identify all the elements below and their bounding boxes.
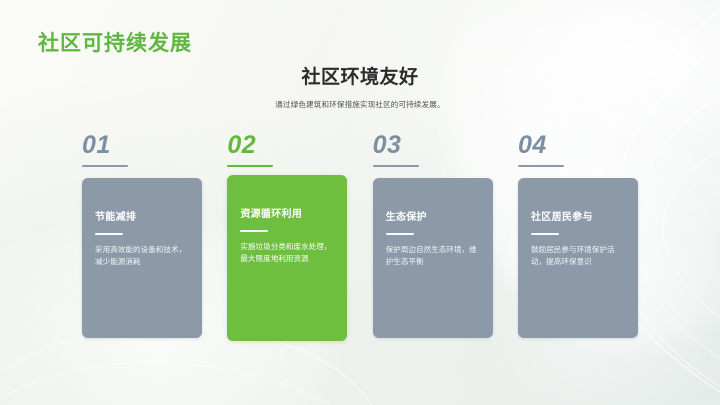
card-title-3: 生态保护 bbox=[386, 212, 480, 224]
column-number-underline-2 bbox=[227, 165, 273, 167]
feature-column-4[interactable]: 04 社区居民参与 鼓励居民参与环境保护活动，提高环保意识 bbox=[518, 133, 638, 338]
column-number-4: 04 bbox=[518, 133, 547, 163]
card-title-2: 资源循环利用 bbox=[240, 209, 334, 221]
feature-column-3[interactable]: 03 生态保护 保护周边自然生态环境，维护生态平衡 bbox=[373, 133, 493, 338]
column-number-1: 01 bbox=[82, 133, 111, 163]
column-number-underline-4 bbox=[518, 165, 564, 167]
slide-title: 社区可持续发展 bbox=[38, 27, 192, 57]
card-title-4: 社区居民参与 bbox=[531, 212, 625, 224]
feature-card-4[interactable]: 社区居民参与 鼓励居民参与环境保护活动，提高环保意识 bbox=[518, 178, 638, 338]
headline-block: 社区环境友好 通过绿色建筑和环保措施实现社区的可持续发展。 bbox=[0, 66, 720, 110]
card-body-2: 实施垃圾分类和废水处理，最大限度地利用资源 bbox=[240, 241, 334, 266]
card-divider-1 bbox=[95, 233, 123, 235]
subheadline: 通过绿色建筑和环保措施实现社区的可持续发展。 bbox=[0, 100, 720, 110]
feature-column-1[interactable]: 01 节能减排 采用高效能的设备和技术，减少能源消耗 bbox=[82, 133, 202, 338]
feature-card-2[interactable]: 资源循环利用 实施垃圾分类和废水处理，最大限度地利用资源 bbox=[227, 175, 347, 341]
card-body-1: 采用高效能的设备和技术，减少能源消耗 bbox=[95, 244, 189, 269]
column-number-underline-1 bbox=[82, 165, 128, 167]
card-body-3: 保护周边自然生态环境，维护生态平衡 bbox=[386, 244, 480, 269]
column-number-2: 02 bbox=[227, 133, 256, 163]
headline: 社区环境友好 bbox=[0, 66, 720, 90]
column-number-underline-3 bbox=[373, 165, 419, 167]
column-number-3: 03 bbox=[373, 133, 402, 163]
card-body-4: 鼓励居民参与环境保护活动，提高环保意识 bbox=[531, 244, 625, 269]
feature-card-3[interactable]: 生态保护 保护周边自然生态环境，维护生态平衡 bbox=[373, 178, 493, 338]
feature-column-2[interactable]: 02 资源循环利用 实施垃圾分类和废水处理，最大限度地利用资源 bbox=[227, 133, 347, 341]
feature-card-1[interactable]: 节能减排 采用高效能的设备和技术，减少能源消耗 bbox=[82, 178, 202, 338]
card-divider-4 bbox=[531, 233, 559, 235]
card-divider-2 bbox=[240, 230, 268, 232]
slide-canvas: 社区可持续发展 社区环境友好 通过绿色建筑和环保措施实现社区的可持续发展。 01… bbox=[0, 0, 720, 405]
feature-columns: 01 节能减排 采用高效能的设备和技术，减少能源消耗 02 资源循环利用 实施垃… bbox=[82, 133, 638, 348]
card-title-1: 节能减排 bbox=[95, 212, 189, 224]
card-divider-3 bbox=[386, 233, 414, 235]
